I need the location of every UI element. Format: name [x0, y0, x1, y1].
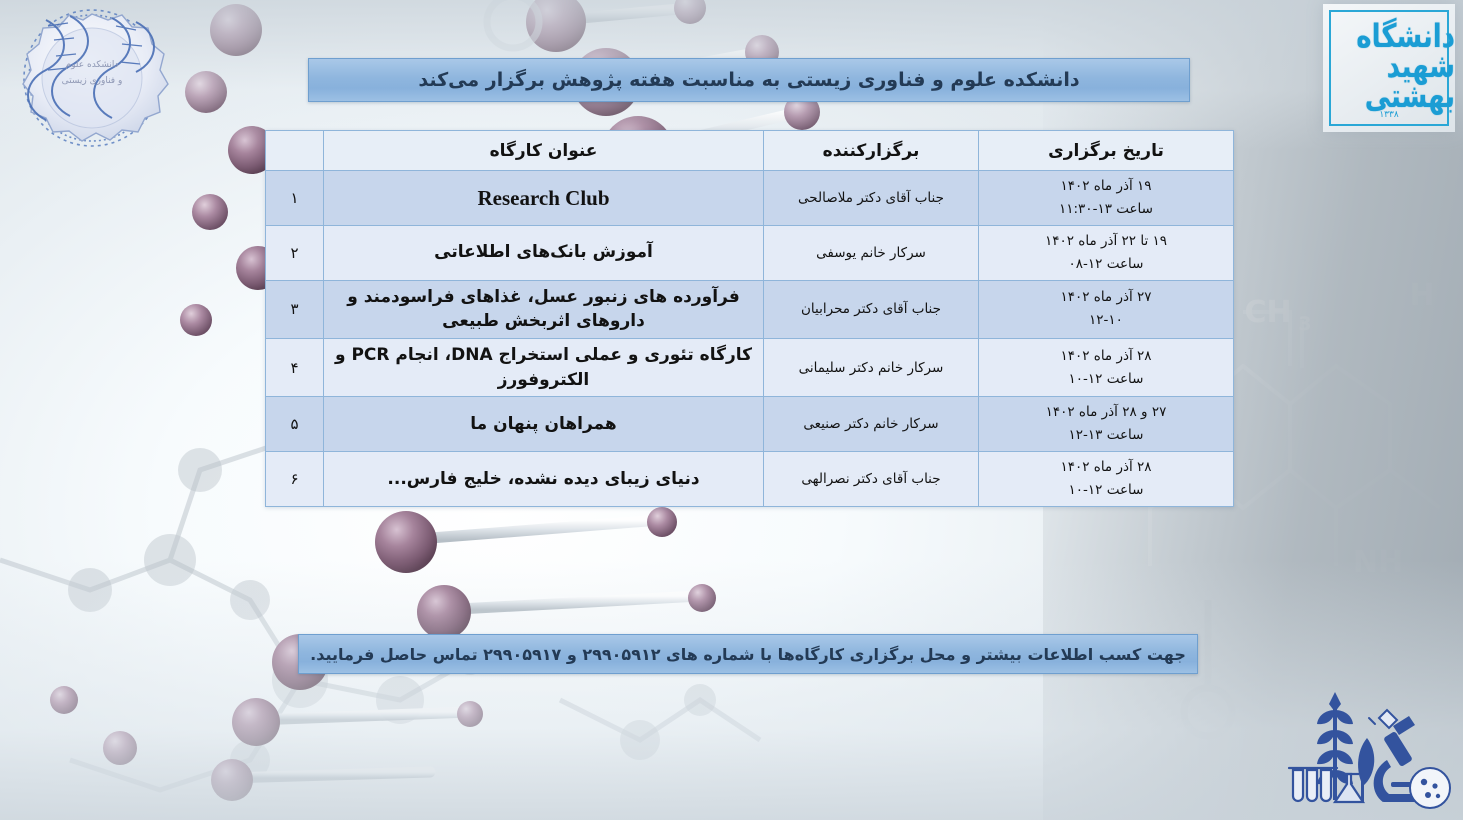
- cell-workshop-title: همراهان پنهان ما: [324, 397, 764, 452]
- cell-date: ۱۹ تا ۲۲ آذر ماه ۱۴۰۲ساعت ۱۲-۰۸: [979, 225, 1234, 280]
- cell-row-number: ۶: [266, 452, 324, 507]
- faculty-seal-line1: دانشکده علوم: [12, 58, 172, 74]
- date-line-1: ۱۹ تا ۲۲ آذر ماه ۱۴۰۲: [985, 230, 1227, 253]
- cell-organizer: سرکار خانم یوسفی: [764, 225, 979, 280]
- footer-contact-banner: جهت کسب اطلاعات بیشتر و محل برگزاری کارگ…: [298, 634, 1198, 674]
- leaf-icon: [1358, 738, 1374, 802]
- date-line-2: ساعت ۱۲-۰۸: [985, 253, 1227, 276]
- date-line-2: ۱۲-۱۰: [985, 309, 1227, 332]
- cell-date: ۱۹ آذر ماه ۱۴۰۲ساعت ۱۳-۱۱:۳۰: [979, 171, 1234, 226]
- cell-row-number: ۲: [266, 225, 324, 280]
- cell-date: ۲۷ آذر ماه ۱۴۰۲۱۲-۱۰: [979, 280, 1234, 338]
- cell-row-number: ۳: [266, 280, 324, 338]
- background-bottom-gradient: [0, 560, 1463, 820]
- cell-workshop-title: دنیای زیبای دیده نشده، خلیج فارس...: [324, 452, 764, 507]
- faculty-seal-text: دانشکده علوم و فناوری زیستی: [12, 58, 172, 90]
- date-line-2: ساعت ۱۳-۱۱:۳۰: [985, 198, 1227, 221]
- date-line-2: ساعت ۱۲-۱۰: [985, 368, 1227, 391]
- column-header-num: [266, 131, 324, 171]
- date-line-1: ۲۸ آذر ماه ۱۴۰۲: [985, 345, 1227, 368]
- header-banner: دانشکده علوم و فناوری زیستی به مناسبت هف…: [308, 58, 1190, 102]
- table-row: ۱۹ تا ۲۲ آذر ماه ۱۴۰۲ساعت ۱۲-۰۸سرکار خان…: [266, 225, 1234, 280]
- biotech-illustration: [1275, 684, 1453, 814]
- faculty-seal-line2: و فناوری زیستی: [12, 74, 172, 90]
- cell-organizer: سرکار خانم دکتر صنیعی: [764, 397, 979, 452]
- cell-workshop-title: Research Club: [324, 171, 764, 226]
- table-header-row: تاریخ برگزاری برگزارکننده عنوان کارگاه: [266, 131, 1234, 171]
- column-header-date: تاریخ برگزاری: [979, 131, 1234, 171]
- column-header-organizer: برگزارکننده: [764, 131, 979, 171]
- svg-text:3: 3: [1298, 313, 1311, 335]
- poster-canvas: CH 3 H NH: [0, 0, 1463, 820]
- cell-organizer: جناب آقای دکتر ملاصالحی: [764, 171, 979, 226]
- cell-workshop-title: آموزش بانک‌های اطلاعاتی: [324, 225, 764, 280]
- table-row: ۲۸ آذر ماه ۱۴۰۲ساعت ۱۲-۱۰سرکار خانم دکتر…: [266, 339, 1234, 397]
- university-logo: دانشگاه شهید بهشتی ۱۳۳۸: [1323, 4, 1455, 132]
- cell-row-number: ۱: [266, 171, 324, 226]
- cell-icon: [1410, 768, 1450, 808]
- table-row: ۲۷ و ۲۸ آذر ماه ۱۴۰۲ساعت ۱۳-۱۲سرکار خانم…: [266, 397, 1234, 452]
- dropper-icon: [1369, 710, 1397, 728]
- cell-workshop-title: فرآورده های زنبور عسل، غذاهای فراسودمند …: [324, 280, 764, 338]
- cell-row-number: ۴: [266, 339, 324, 397]
- test-tubes-icon: [1289, 768, 1337, 801]
- cell-organizer: جناب آقای دکتر نصرالهی: [764, 452, 979, 507]
- cell-row-number: ۵: [266, 397, 324, 452]
- date-line-2: ساعت ۱۲-۱۰: [985, 479, 1227, 502]
- date-line-1: ۲۸ آذر ماه ۱۴۰۲: [985, 456, 1227, 479]
- label-ch3: CH: [1244, 295, 1291, 330]
- cell-date: ۲۸ آذر ماه ۱۴۰۲ساعت ۱۲-۱۰: [979, 339, 1234, 397]
- chemical-structure-labels: CH 3 H NH: [1244, 278, 1434, 580]
- university-logo-calligraphy: دانشگاه شهید بهشتی: [1323, 0, 1455, 148]
- table-row: ۲۸ آذر ماه ۱۴۰۲ساعت ۱۲-۱۰جناب آقای دکتر …: [266, 452, 1234, 507]
- cell-organizer: جناب آقای دکتر محرابیان: [764, 280, 979, 338]
- column-header-title: عنوان کارگاه: [324, 131, 764, 171]
- table-row: ۱۹ آذر ماه ۱۴۰۲ساعت ۱۳-۱۱:۳۰جناب آقای دک…: [266, 171, 1234, 226]
- date-line-1: ۱۹ آذر ماه ۱۴۰۲: [985, 175, 1227, 198]
- table-body: ۱۹ آذر ماه ۱۴۰۲ساعت ۱۳-۱۱:۳۰جناب آقای دک…: [266, 171, 1234, 507]
- cell-date: ۲۷ و ۲۸ آذر ماه ۱۴۰۲ساعت ۱۳-۱۲: [979, 397, 1234, 452]
- date-line-2: ساعت ۱۳-۱۲: [985, 424, 1227, 447]
- label-nh: NH: [1353, 545, 1403, 580]
- cell-organizer: سرکار خانم دکتر سلیمانی: [764, 339, 979, 397]
- date-line-1: ۲۷ و ۲۸ آذر ماه ۱۴۰۲: [985, 401, 1227, 424]
- table-row: ۲۷ آذر ماه ۱۴۰۲۱۲-۱۰جناب آقای دکتر محراب…: [266, 280, 1234, 338]
- faculty-seal-logo: دانشکده علوم و فناوری زیستی: [12, 6, 172, 156]
- date-line-1: ۲۷ آذر ماه ۱۴۰۲: [985, 286, 1227, 309]
- cell-date: ۲۸ آذر ماه ۱۴۰۲ساعت ۱۲-۱۰: [979, 452, 1234, 507]
- label-h: H: [1409, 278, 1434, 313]
- cell-workshop-title: کارگاه تئوری و عملی استخراج DNA، انجام P…: [324, 339, 764, 397]
- workshop-schedule-table: تاریخ برگزاری برگزارکننده عنوان کارگاه ۱…: [265, 130, 1234, 507]
- university-logo-year: ۱۳۳۸: [1323, 110, 1455, 120]
